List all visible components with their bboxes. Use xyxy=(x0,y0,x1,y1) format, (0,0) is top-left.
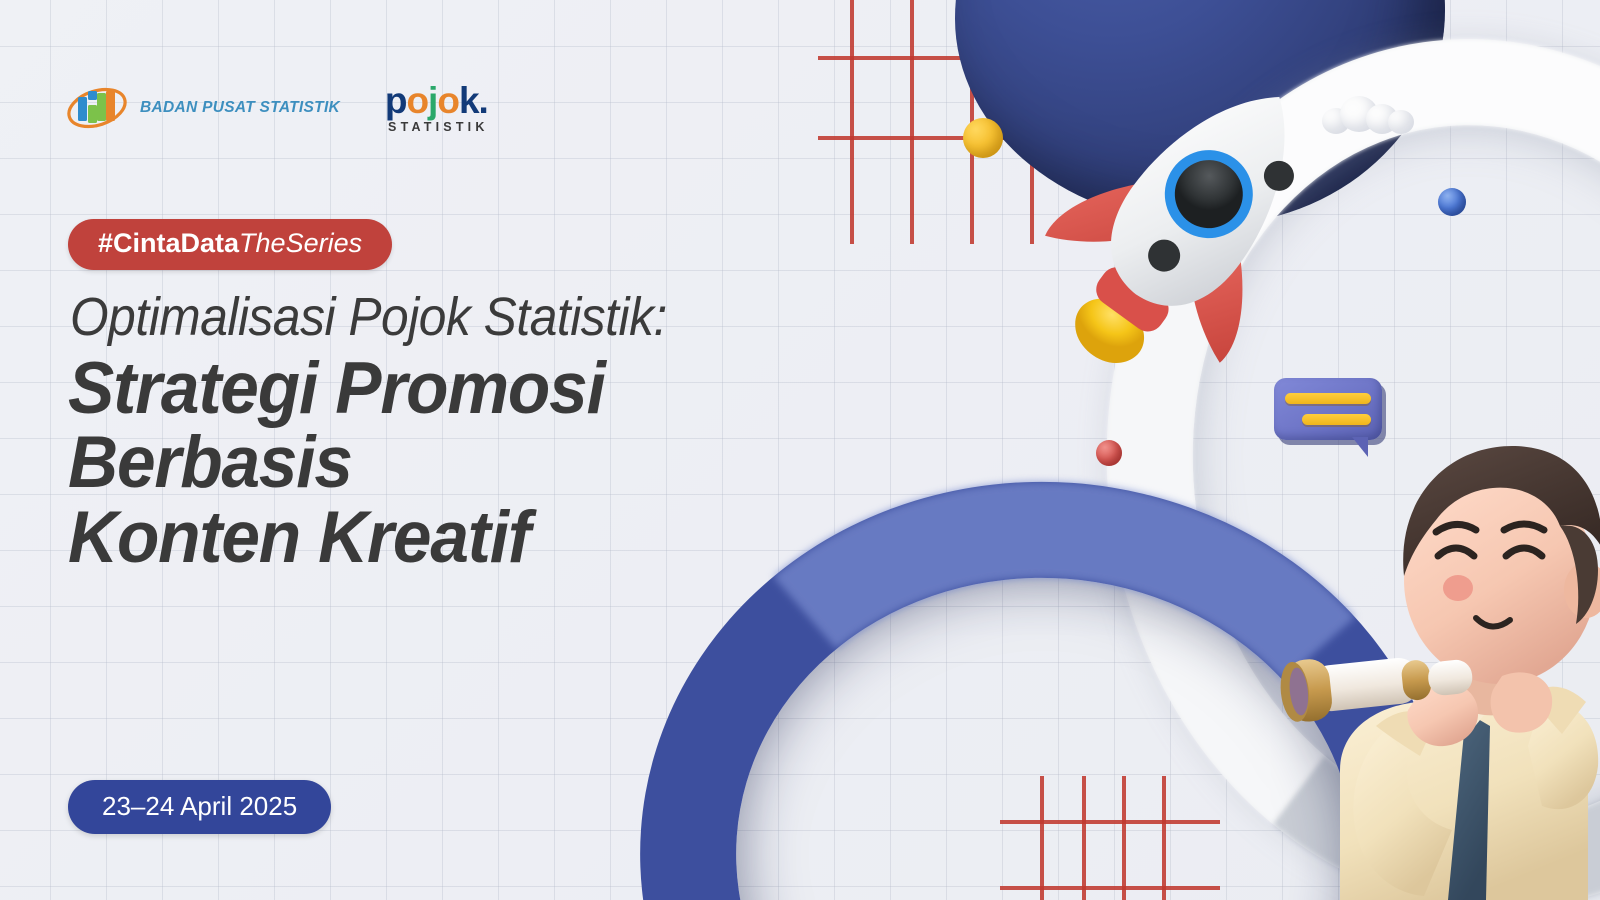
date-badge: 23–24 April 2025 xyxy=(68,780,331,834)
chat-bubble-line-2 xyxy=(1302,414,1371,425)
person-with-telescope-illustration xyxy=(1190,430,1600,900)
yellow-sphere xyxy=(963,118,1003,158)
title-line-3: Konten Kreatif xyxy=(68,501,605,575)
title-line-2: Berbasis xyxy=(68,426,605,500)
red-sphere xyxy=(1096,440,1122,466)
badan-pusat-statistik-logo: BADAN PUSAT STATISTIK xyxy=(66,83,340,133)
chat-bubble-line-1 xyxy=(1285,393,1371,404)
page-title: Strategi Promosi Berbasis Konten Kreatif xyxy=(68,352,605,575)
hashtag-italic-part: TheSeries xyxy=(239,228,362,258)
title-line-1: Strategi Promosi xyxy=(68,352,605,426)
bps-logo-text: BADAN PUSAT STATISTIK xyxy=(140,99,340,117)
headline-subtitle: Optimalisasi Pojok Statistik: xyxy=(70,286,667,348)
pojok-statistik-logo: pojok. STATISTIK xyxy=(384,82,489,134)
blue-sphere xyxy=(1438,188,1466,216)
hashtag-badge: #CintaDataTheSeries xyxy=(68,219,392,270)
red-grid-bottom-right xyxy=(1000,776,1220,900)
hashtag-bold-part: #CintaData xyxy=(98,228,239,258)
rocket-illustration xyxy=(1030,60,1350,380)
presentation-slide: BADAN PUSAT STATISTIK pojok. STATISTIK #… xyxy=(0,0,1600,900)
pojok-wordmark: pojok. xyxy=(385,82,488,119)
pojok-subtitle: STATISTIK xyxy=(384,120,489,134)
bps-mark-icon xyxy=(66,83,128,133)
logo-bar: BADAN PUSAT STATISTIK pojok. STATISTIK xyxy=(66,82,489,134)
